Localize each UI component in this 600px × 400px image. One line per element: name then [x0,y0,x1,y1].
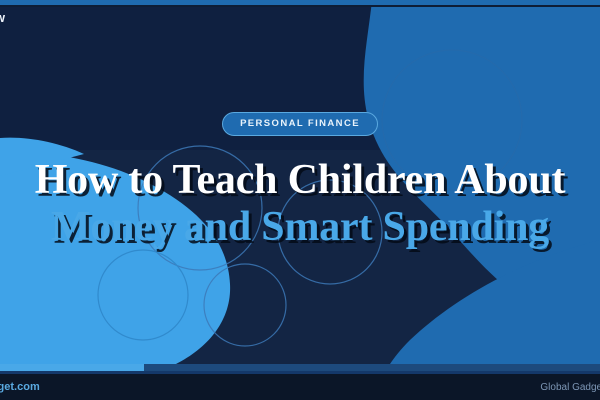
article-headline: How to Teach Children About Money and Sm… [0,158,600,249]
article-hero-card: New ET PERSONAL FINANCE How to Teach Chi… [0,0,600,400]
category-badge[interactable]: PERSONAL FINANCE [222,112,378,136]
top-accent-strip-shadow [0,5,600,7]
progress-bar-track[interactable] [0,364,600,371]
footer-brand-name: Global Gadget Stor [540,382,600,393]
headline-line-1: How to Teach Children About [0,158,600,203]
brand-header-subtitle: ET [0,27,5,35]
brand-header-title: New [0,11,5,25]
headline-line-2: Money and Smart Spending [0,205,600,250]
progress-bar-fill [0,364,144,371]
footer-bar: gadget.com Global Gadget Stor [0,374,600,400]
brand-header: New ET [0,11,5,35]
category-badge-container: PERSONAL FINANCE [0,112,600,136]
footer-site-url[interactable]: gadget.com [0,381,40,393]
progress-bar-shadow [0,371,600,374]
